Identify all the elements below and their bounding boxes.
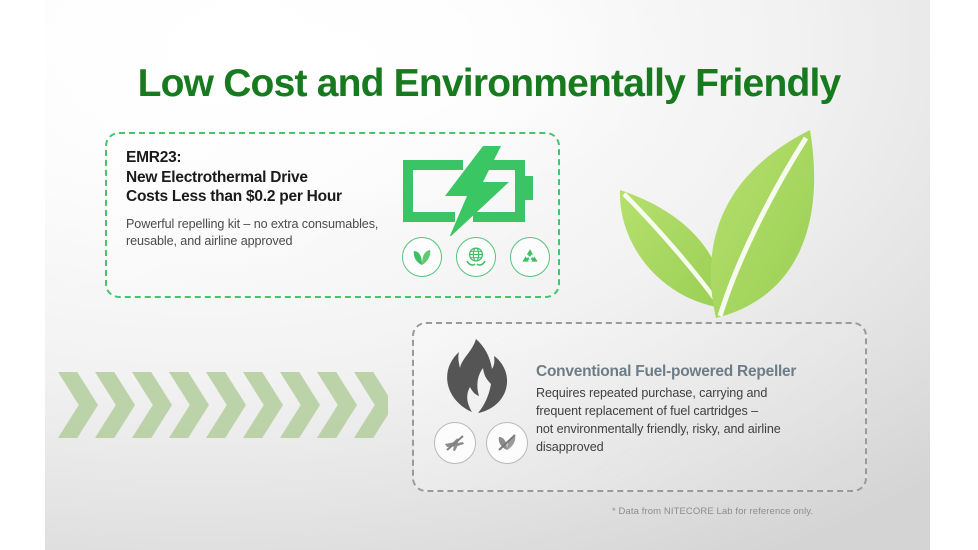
chevron-arrow (58, 372, 98, 438)
chevron-arrow (132, 372, 172, 438)
card-conventional-body: Requires repeated purchase, carrying and… (536, 384, 856, 456)
slide-canvas: Low Cost and Environmentally Friendly EM… (0, 0, 978, 550)
chevron-arrow (206, 372, 246, 438)
eco-badges-group (402, 237, 550, 277)
card-emr23-heading-line2: New Electrothermal Drive (126, 168, 396, 188)
card-conventional-text-block: Conventional Fuel-powered Repeller Requi… (536, 362, 856, 456)
card-conventional-body-line4: disapproved (536, 438, 856, 456)
chevron-arrows-decoration (58, 372, 388, 438)
page-title: Low Cost and Environmentally Friendly (0, 62, 978, 106)
footnote-disclaimer: * Data from NITECORE Lab for reference o… (612, 506, 813, 517)
card-conventional-repeller: Conventional Fuel-powered Repeller Requi… (412, 322, 867, 492)
globe-hands-badge-icon (456, 237, 496, 277)
card-conventional-body-line1: Requires repeated purchase, carrying and (536, 384, 856, 402)
card-emr23-text-block: EMR23: New Electrothermal Drive Costs Le… (126, 148, 396, 251)
card-emr23-body: Powerful repelling kit – no extra consum… (126, 216, 396, 251)
card-conventional-heading: Conventional Fuel-powered Repeller (536, 362, 856, 382)
two-leaf-logo (600, 122, 880, 327)
battery-charging-icon (397, 146, 547, 236)
card-emr23-heading: EMR23: New Electrothermal Drive Costs Le… (126, 148, 396, 207)
card-conventional-body-line2: frequent replacement of fuel cartridges … (536, 402, 856, 420)
recycle-badge-icon (510, 237, 550, 277)
chevron-arrow (317, 372, 357, 438)
flame-icon (442, 338, 514, 416)
negative-badges-group (434, 422, 528, 464)
card-emr23-heading-line3: Costs Less than $0.2 per Hour (126, 187, 396, 207)
card-conventional-body-line3: not environmentally friendly, risky, and… (536, 420, 856, 438)
no-leaf-badge-icon (486, 422, 528, 464)
chevron-arrow (280, 372, 320, 438)
leaf-badge-icon (402, 237, 442, 277)
card-emr23-heading-line1: EMR23: (126, 148, 396, 168)
chevron-arrow (243, 372, 283, 438)
card-emr23-benefits: EMR23: New Electrothermal Drive Costs Le… (105, 132, 560, 298)
chevron-arrow (354, 372, 388, 438)
chevron-arrow (169, 372, 209, 438)
chevron-arrow (95, 372, 135, 438)
no-airplane-badge-icon (434, 422, 476, 464)
